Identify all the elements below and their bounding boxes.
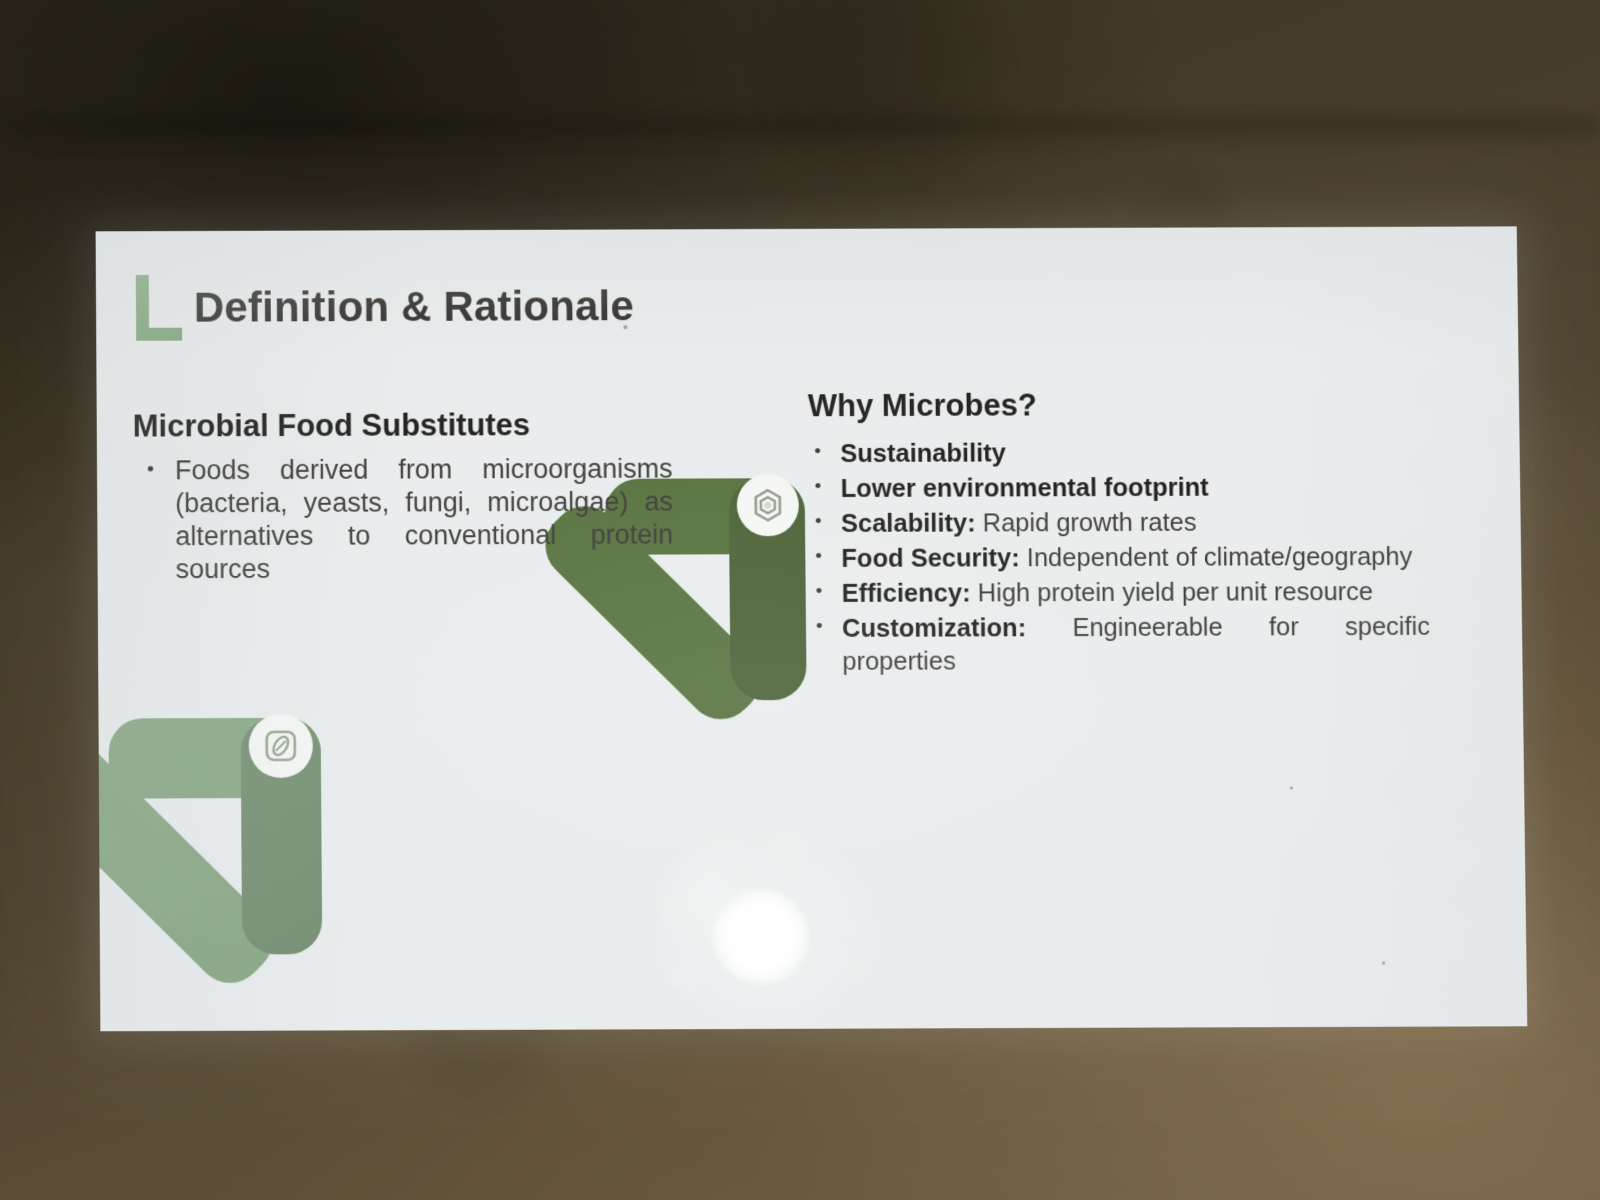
arrow-up-right-light-icon: [109, 717, 412, 1031]
hexagon-nut-icon: [748, 485, 788, 525]
bullet-label: Scalability:: [841, 509, 976, 537]
lens-flare-blob: [661, 964, 707, 994]
list-item: Scalability: Rapid growth rates: [809, 506, 1429, 542]
bullet-label: Food Security:: [841, 544, 1020, 573]
dust-speck: [1382, 962, 1385, 965]
page-title: Definition & Rationale: [194, 282, 634, 331]
bullet-text: High protein yield per unit resource: [970, 578, 1373, 607]
bullet-text: Rapid growth rates: [975, 509, 1196, 538]
corner-bracket-icon: [136, 275, 182, 341]
list-item: Lower environmental footprint: [809, 471, 1429, 507]
slide-body: Microbial Food Substitutes Foods derived…: [97, 386, 1519, 391]
bullet-label: Lower environmental footprint: [841, 474, 1209, 503]
list-item: Efficiency: High protein yield per unit …: [810, 575, 1430, 611]
projector-glare-halo: [640, 818, 893, 1031]
left-column-heading: Microbial Food Substitutes: [133, 407, 673, 445]
right-column-heading: Why Microbes?: [808, 386, 1428, 424]
projector-hotspot: [712, 888, 809, 985]
leaf-badge: [249, 714, 313, 778]
lens-flare-streak: [763, 814, 821, 893]
list-item: Food Security: Independent of climate/ge…: [809, 541, 1429, 577]
bullet-label: Customization:: [842, 614, 1026, 643]
lens-flare-blob: [701, 919, 735, 947]
leaf-in-rounded-square-icon: [260, 725, 302, 767]
right-column: Why Microbes? Sustainability Lower envir…: [808, 386, 1431, 681]
presentation-slide[interactable]: Definition & Rationale: [96, 226, 1528, 1031]
slide-title-row: Definition & Rationale: [136, 271, 634, 342]
bullet-label: Sustainability: [840, 440, 1006, 469]
dust-speck: [1290, 786, 1293, 789]
left-column: Microbial Food Substitutes Foods derived…: [133, 407, 674, 588]
right-bullet-list: Sustainability Lower environmental footp…: [808, 436, 1430, 680]
lens-flare-streak: [640, 816, 772, 971]
bullet-text: Independent of climate/geography: [1020, 543, 1413, 572]
left-bullet-list: Foods derived from microorganisms (bacte…: [133, 453, 674, 586]
list-item: Sustainability: [808, 436, 1428, 472]
hexagon-nut-badge: [737, 474, 800, 536]
slide-wrapper: Definition & Rationale: [0, 0, 1600, 1200]
wall-shadow-band: [0, 118, 1600, 144]
list-item: Foods derived from microorganisms (bacte…: [133, 453, 674, 586]
photo-scene: Definition & Rationale: [0, 0, 1600, 1200]
list-item: Customization: Engineerable for specific…: [810, 610, 1431, 680]
bullet-label: Efficiency:: [842, 579, 971, 607]
